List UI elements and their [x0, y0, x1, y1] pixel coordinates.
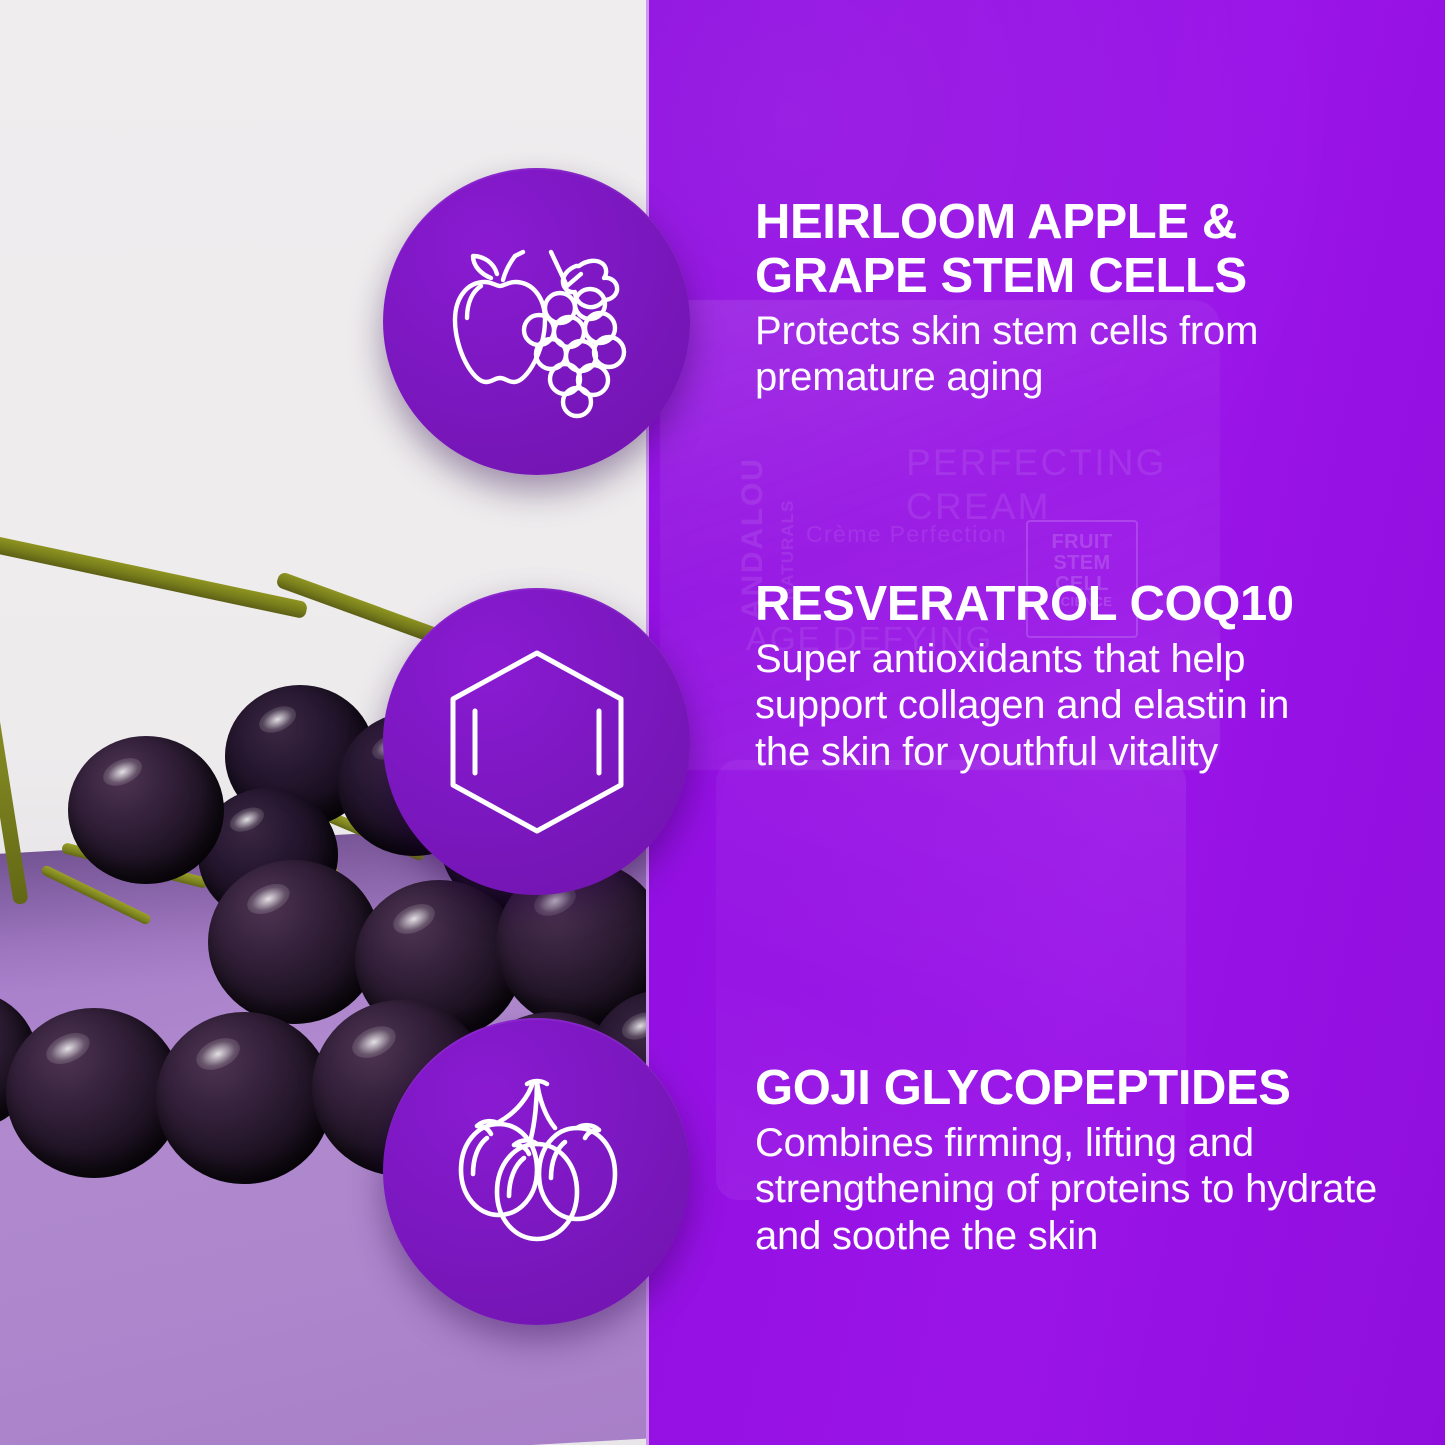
- feature-body: Super antioxidants that help support col…: [755, 636, 1355, 775]
- feature-body: Protects skin stem cells from premature …: [755, 308, 1395, 401]
- feature-block-apple-grape: HEIRLOOM APPLE & GRAPE STEM CELLS Protec…: [755, 196, 1395, 401]
- apple-grape-icon: [429, 222, 644, 422]
- feature-heading: RESVERATROL COQ10: [755, 578, 1355, 632]
- watermark-product-french: Crème Perfection: [806, 521, 1007, 548]
- feature-icon-badge-goji: [383, 1018, 690, 1325]
- feature-heading: GOJI GLYCOPEPTIDES: [755, 1062, 1435, 1116]
- badge-line-1: FRUIT: [1028, 532, 1136, 553]
- infographic-root: ANDALOU NATURALS PERFECTING CREAM Crème …: [0, 0, 1445, 1445]
- watermark-product-line-1: PERFECTING: [906, 442, 1167, 484]
- feature-heading: HEIRLOOM APPLE & GRAPE STEM CELLS: [755, 196, 1395, 304]
- feature-icon-badge-apple-grape: [383, 168, 690, 475]
- feature-icon-badge-molecule: [383, 588, 690, 895]
- badge-line-2: STEM: [1028, 553, 1136, 574]
- feature-block-goji: GOJI GLYCOPEPTIDES Combines firming, lif…: [755, 1062, 1435, 1259]
- goji-berry-icon: [437, 1072, 637, 1272]
- hexagon-molecule-icon: [445, 647, 629, 837]
- feature-block-resveratrol: RESVERATROL COQ10 Super antioxidants tha…: [755, 578, 1355, 775]
- feature-body: Combines firming, lifting and strengthen…: [755, 1120, 1435, 1259]
